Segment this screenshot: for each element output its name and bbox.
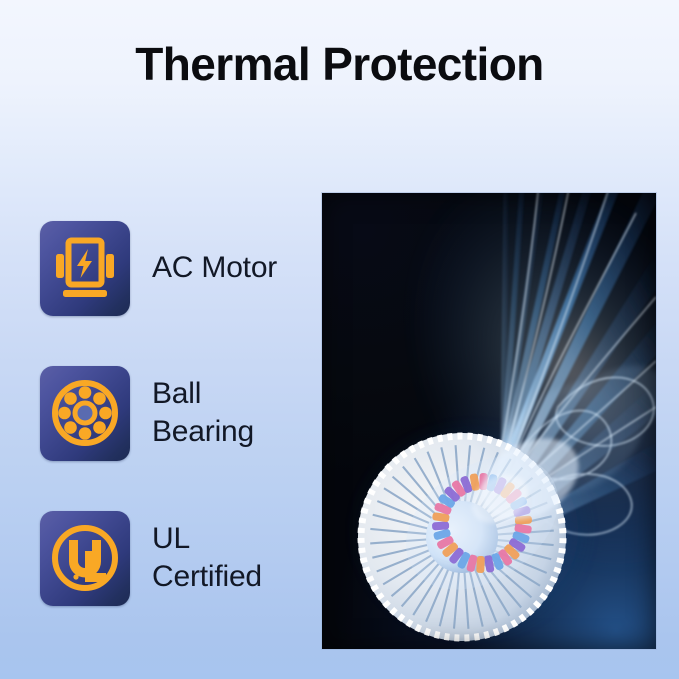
ul-certified-icon — [49, 522, 121, 594]
ac-motor-icon — [54, 236, 116, 300]
feature-label-line: Bearing — [152, 413, 254, 451]
feature-label-line: AC Motor — [152, 249, 277, 287]
motor-stator-assembly — [322, 193, 656, 649]
ball-bearing-icon — [50, 378, 120, 448]
ac-motor-tile — [40, 221, 130, 316]
feature-label-line: UL — [152, 520, 262, 558]
feature-label-ball-bearing: Ball Bearing — [152, 375, 254, 451]
feature-label-ac-motor: AC Motor — [152, 249, 277, 287]
motor-fan-airflow-photo — [322, 193, 656, 649]
ball-bearing-tile — [40, 366, 130, 461]
feature-item-ul-certified: UL Certified — [40, 506, 310, 610]
feature-item-ac-motor: AC Motor — [40, 216, 310, 320]
feature-label-line: Certified — [152, 558, 262, 596]
infographic-root: Thermal Protection — [0, 0, 679, 679]
ul-certified-tile — [40, 511, 130, 606]
feature-list: AC Motor — [40, 216, 310, 610]
page-title: Thermal Protection — [0, 36, 679, 92]
feature-label-line: Ball — [152, 375, 254, 413]
feature-label-ul-certified: UL Certified — [152, 520, 262, 596]
feature-item-ball-bearing: Ball Bearing — [40, 361, 310, 465]
